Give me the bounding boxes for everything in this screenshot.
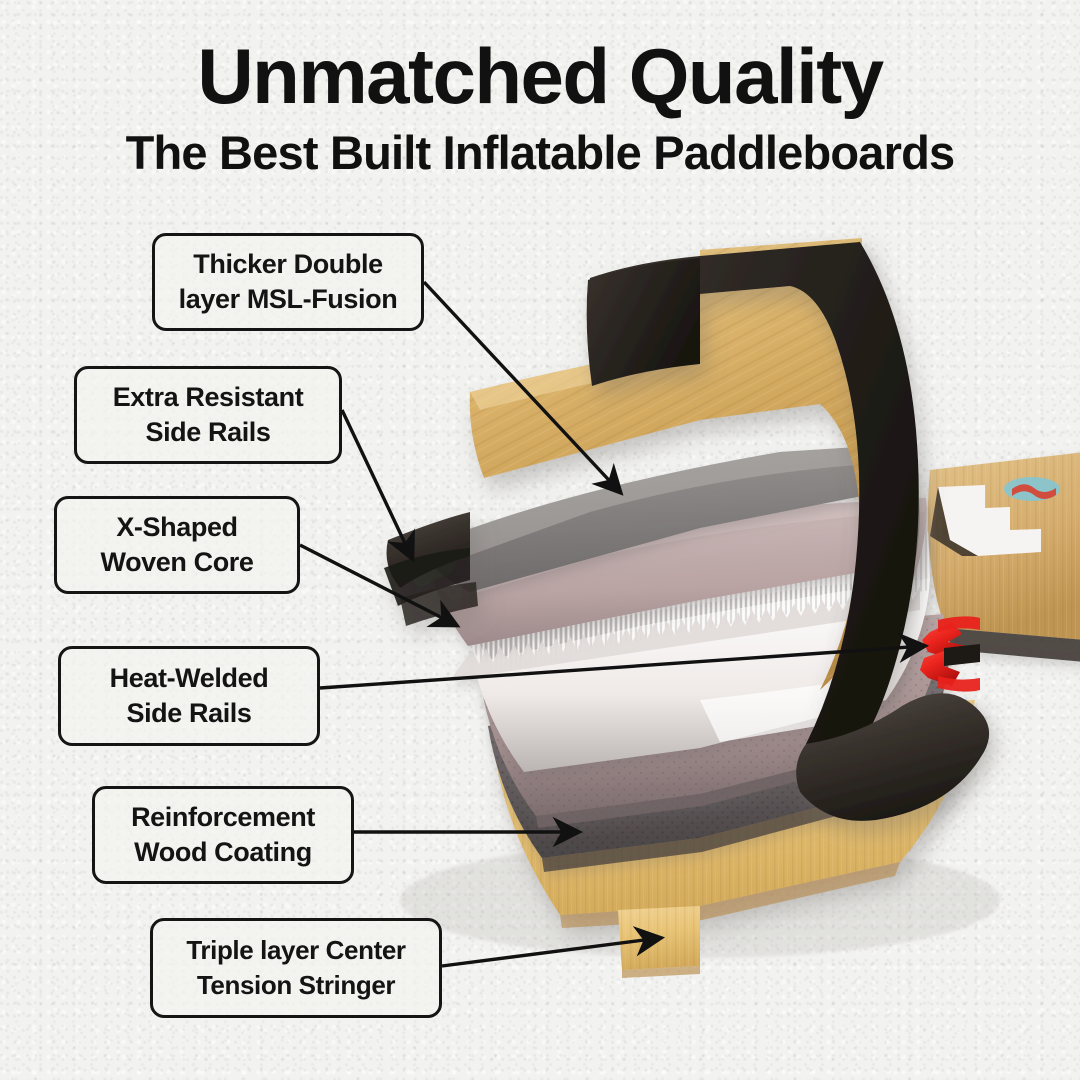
callout-thicker-double-layer-msl-fusion[interactable]: Thicker Double layer MSL-Fusion — [152, 233, 424, 331]
callout-x-shaped-woven-core[interactable]: X-Shaped Woven Core — [54, 496, 300, 594]
callout-extra-resistant-side-rails[interactable]: Extra Resistant Side Rails — [74, 366, 342, 464]
callout-heat-welded-side-rails[interactable]: Heat-Welded Side Rails — [58, 646, 320, 746]
callout-line-2: Tension Stringer — [197, 968, 395, 1003]
callout-line-2: layer MSL-Fusion — [179, 282, 398, 317]
callout-line-2: Side Rails — [145, 415, 270, 450]
callout-line-2: Wood Coating — [134, 835, 312, 870]
callout-line-1: Reinforcement — [131, 800, 315, 835]
callout-line-1: Heat-Welded — [110, 661, 269, 696]
callout-triple-layer-center-tension-stringer[interactable]: Triple layer Center Tension Stringer — [150, 918, 442, 1018]
callout-line-1: Extra Resistant — [113, 380, 304, 415]
callout-reinforcement-wood-coating[interactable]: Reinforcement Wood Coating — [92, 786, 354, 884]
heading-block: Unmatched Quality The Best Built Inflata… — [0, 0, 1080, 180]
page-subtitle: The Best Built Inflatable Paddleboards — [0, 126, 1080, 180]
callout-line-1: X-Shaped — [116, 510, 237, 545]
callout-line-1: Thicker Double — [193, 247, 382, 282]
callout-line-2: Woven Core — [100, 545, 253, 580]
center-tension-stringer-tab — [618, 906, 700, 978]
callout-line-2: Side Rails — [126, 696, 251, 731]
page-title: Unmatched Quality — [0, 34, 1080, 118]
infographic-canvas: Unmatched Quality The Best Built Inflata… — [0, 0, 1080, 1080]
callout-line-1: Triple layer Center — [186, 933, 405, 968]
